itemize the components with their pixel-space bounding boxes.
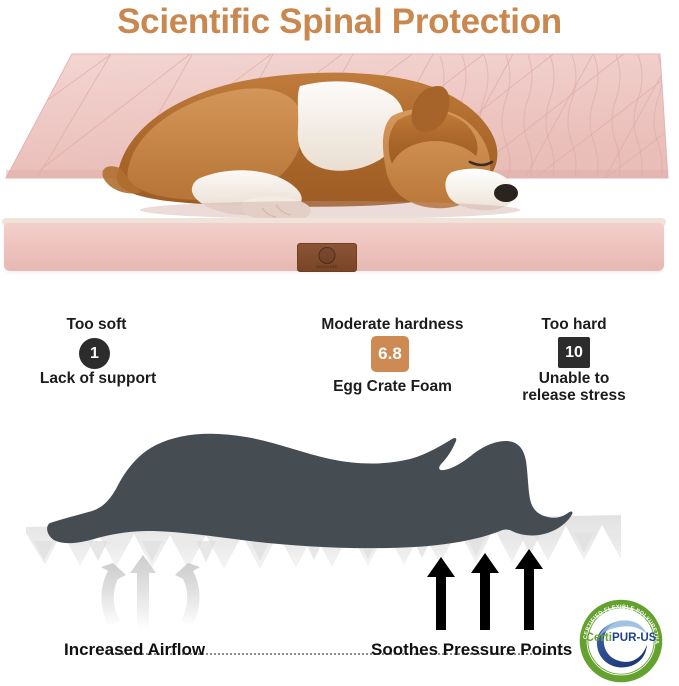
brand-label-text: BEDSURE: [298, 264, 356, 269]
scale-middle-bottom-label: Egg Crate Foam: [305, 378, 480, 395]
scale-badge-10: 10: [558, 337, 590, 368]
certipur-center-text: CertiPUR-US: [586, 631, 657, 644]
scale-right-bottom-label: Unable to release stress: [500, 370, 648, 404]
scale-left-bottom-label: Lack of support: [8, 370, 188, 387]
page-title: Scientific Spinal Protection: [0, 2, 679, 42]
scale-badge-1: 1: [79, 338, 110, 369]
scale-right-bottom-line2: release stress: [522, 387, 625, 404]
airflow-label: Increased Airflow: [64, 640, 205, 660]
scale-right-top-label: Too hard: [500, 316, 648, 333]
brand-label-tag: BEDSURE: [297, 243, 357, 272]
certipur-us-badge: CertiPUR-US CONTAINS CERTIFIED FLEXIBLE …: [578, 598, 664, 684]
brand-logo-icon: [319, 247, 336, 264]
scale-badge-6-8: 6.8: [371, 336, 409, 372]
dog-silhouette: [47, 434, 572, 548]
pressure-points-label: Soothes Pressure Points: [371, 640, 572, 660]
scale-left-top-label: Too soft: [24, 316, 169, 333]
scale-right-bottom-line1: Unable to: [539, 370, 610, 387]
product-infographic: Scientific Spinal Protection: [0, 0, 679, 686]
scale-middle-top-label: Moderate hardness: [300, 316, 485, 333]
